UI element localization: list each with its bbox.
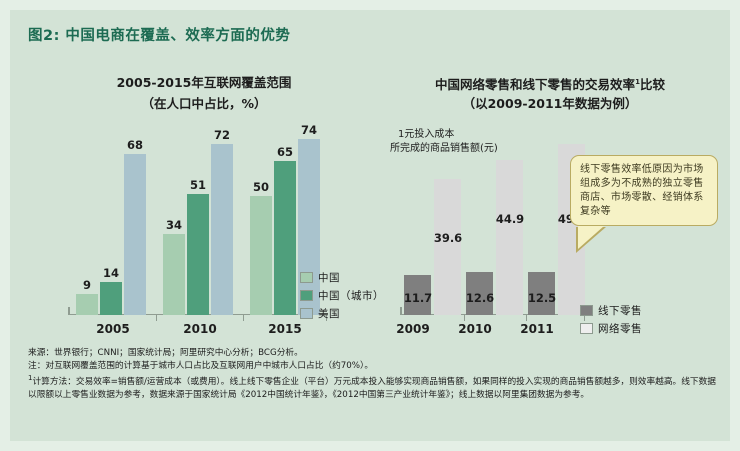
right-chart-xtick-2009: 2009	[378, 322, 448, 336]
legend-swatch-usa-icon	[300, 308, 313, 319]
right-chart-subtitle: （以2009-2011年数据为例）	[380, 93, 720, 112]
footnote-note: 注：对互联网覆盖范围的计算基于城市人口占比及互联网用户中城市人口占比（约70%）…	[28, 360, 718, 373]
left-chart-group-2010: 34 51 72	[161, 125, 239, 315]
right-chart-group-2009: 11.7 39.6	[404, 125, 462, 315]
right-chart-title-part2: 比较	[640, 77, 665, 92]
bar-china-urban-2010[interactable]	[187, 194, 209, 315]
footnote-method: 1计算方法：交易效率=销售额/运营成本（或费用）。线上线下零售企业（平台）万元成…	[28, 372, 718, 401]
left-chart-tick-2	[243, 315, 244, 321]
bar-label-usa-2015: 74	[289, 123, 329, 137]
right-chart-y-axis-stub	[400, 307, 402, 315]
left-chart-subtitle: （在人口中占比，%）	[28, 93, 380, 112]
bar-label-usa-2005: 68	[115, 138, 155, 152]
left-chart-legend: 中国 中国（城市） 美国	[300, 270, 384, 324]
right-chart: 中国网络零售和线下零售的交易效率1比较 （以2009-2011年数据为例） 1元…	[380, 70, 720, 355]
bar-china-2010[interactable]	[163, 234, 185, 315]
left-chart-y-axis-stub	[68, 307, 70, 315]
left-chart-xtick-2015: 2015	[250, 322, 320, 336]
legend-label-offline: 线下零售	[598, 303, 642, 318]
legend-label-online: 网络零售	[598, 321, 642, 336]
right-chart-tick-2	[526, 315, 527, 321]
left-chart-xtick-2005: 2005	[78, 322, 148, 336]
right-chart-plot-area: 11.7 39.6 12.6 44.9 12.5 49.6	[400, 125, 585, 315]
legend-label-china: 中国	[318, 270, 340, 285]
right-chart-xtick-2010: 2010	[440, 322, 510, 336]
callout-tail-inner-icon	[578, 226, 604, 249]
bar-usa-2005[interactable]	[124, 154, 146, 315]
right-chart-xtick-2011: 2011	[502, 322, 572, 336]
legend-label-china-urban: 中国（城市）	[318, 288, 384, 303]
legend-swatch-china-icon	[300, 272, 313, 283]
bar-china-2005[interactable]	[76, 294, 98, 315]
legend-item-china[interactable]: 中国	[300, 270, 384, 285]
left-chart-xtick-2010: 2010	[165, 322, 235, 336]
bar-china-urban-2005[interactable]	[100, 282, 122, 315]
left-chart-tick-1	[156, 315, 157, 321]
left-chart: 2005-2015年互联网覆盖范围 （在人口中占比，%） 9 14 68	[28, 70, 380, 355]
figure-panel: 图2: 中国电商在覆盖、效率方面的优势 2005-2015年互联网覆盖范围 （在…	[10, 10, 730, 441]
legend-label-usa: 美国	[318, 306, 340, 321]
left-chart-group-2005: 9 14 68	[74, 125, 152, 315]
legend-item-china-urban[interactable]: 中国（城市）	[300, 288, 384, 303]
legend-swatch-online-icon	[580, 323, 593, 334]
bar-label-usa-2010: 72	[202, 128, 242, 142]
footnotes: 来源：世界银行；CNNI；国家统计局；阿里研究中心分析；BCG分析。 注：对互联…	[28, 347, 718, 401]
bar-china-2015[interactable]	[250, 196, 272, 315]
bar-label-online-2010: 44.9	[487, 212, 533, 226]
footnote-source: 来源：世界银行；CNNI；国家统计局；阿里研究中心分析；BCG分析。	[28, 347, 718, 360]
right-chart-title-part1: 中国网络零售和线下零售的交易效率	[435, 77, 635, 92]
left-chart-title: 2005-2015年互联网覆盖范围	[28, 74, 380, 91]
bar-china-urban-2015[interactable]	[274, 161, 296, 315]
legend-item-usa[interactable]: 美国	[300, 306, 384, 321]
right-chart-tick-1	[464, 315, 465, 321]
callout-bubble: 线下零售效率低原因为市场组成多为不成熟的独立零售商店、市场零散、经销体系复杂等	[570, 155, 718, 226]
right-chart-title: 中国网络零售和线下零售的交易效率1比较	[380, 74, 720, 93]
bar-usa-2010[interactable]	[211, 144, 233, 315]
legend-swatch-offline-icon	[580, 305, 593, 316]
right-chart-group-2010: 12.6 44.9	[466, 125, 524, 315]
footnote-method-text: 计算方法：交易效率=销售额/运营成本（或费用）。线上线下零售企业（平台）万元成本…	[28, 377, 716, 400]
figure-title: 图2: 中国电商在覆盖、效率方面的优势	[28, 24, 290, 45]
figure-canvas: 图2: 中国电商在覆盖、效率方面的优势 2005-2015年互联网覆盖范围 （在…	[0, 0, 740, 451]
legend-swatch-china-urban-icon	[300, 290, 313, 301]
legend-item-offline[interactable]: 线下零售	[580, 303, 642, 318]
legend-item-online[interactable]: 网络零售	[580, 321, 642, 336]
left-chart-plot-area: 9 14 68 34 51 72	[68, 125, 328, 315]
bar-label-online-2009: 39.6	[425, 231, 471, 245]
right-chart-legend: 线下零售 网络零售	[580, 303, 642, 339]
